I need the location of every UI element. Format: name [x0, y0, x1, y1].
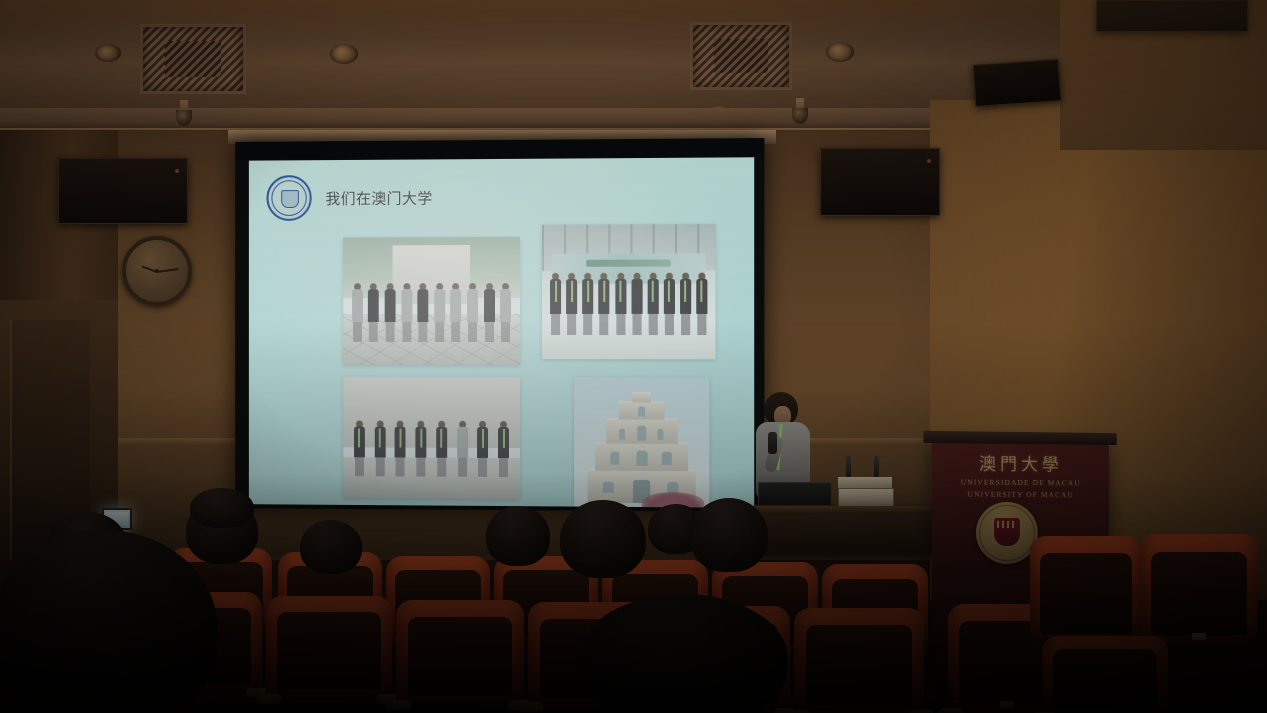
dome-camera-icon — [176, 100, 192, 126]
lectern-nameplate: 澳門大學 UNIVERSIDADE DE MACAU UNIVERSITY OF… — [950, 449, 1091, 499]
photo-people-group — [549, 273, 709, 335]
slide-title: 我们在澳门大学 — [325, 187, 432, 208]
lectern-english-name: UNIVERSITY OF MACAU — [950, 490, 1091, 500]
seat[interactable] — [1042, 636, 1168, 713]
clock-minute-hand — [157, 268, 179, 273]
dome-camera-icon — [792, 98, 808, 124]
seat[interactable] — [1030, 536, 1142, 642]
ruins-of-st-pauls — [588, 394, 696, 504]
clock-center-pin — [155, 269, 159, 273]
seat[interactable] — [396, 600, 524, 704]
audience-head — [486, 506, 550, 566]
vent-inner-louver — [714, 39, 768, 74]
handheld-microphone — [768, 432, 777, 454]
vent-inner-louver — [165, 41, 221, 77]
slide-photo-3 — [343, 377, 520, 499]
receiver-antenna — [846, 456, 851, 478]
seat-number-plate — [1192, 633, 1206, 640]
downlight-icon — [826, 42, 854, 62]
audience-head — [190, 488, 254, 528]
lectern-chinese-name: 澳門大學 — [950, 449, 1091, 475]
ceiling-air-vent-right — [690, 22, 792, 90]
slide-photo-2 — [542, 224, 716, 359]
right-wall-speaker — [820, 148, 940, 216]
downlight-icon — [95, 44, 121, 62]
university-crest-icon — [976, 502, 1038, 564]
receiver-antenna — [874, 456, 879, 478]
speaker-indicator-led — [175, 169, 179, 173]
seat-number-plate — [1000, 701, 1014, 708]
ceiling-edge-panel — [1096, 0, 1248, 32]
upper-right-speaker — [973, 59, 1062, 107]
screen-black-border — [235, 138, 764, 160]
slide-header: 我们在澳门大学 — [267, 172, 745, 222]
lectern-portuguese-name: UNIVERSIDADE DE MACAU — [950, 477, 1091, 487]
seat[interactable] — [266, 596, 392, 698]
audience-head — [560, 500, 646, 578]
projection-screen: 我们在澳门大学 — [235, 138, 764, 512]
presentation-slide: 我们在澳门大学 — [249, 157, 754, 508]
av-receiver-upper — [838, 477, 892, 488]
ceiling-air-vent-left — [140, 24, 246, 94]
lectern-top-surface — [923, 431, 1116, 445]
slide-photo-4 — [574, 377, 709, 508]
audience-head — [300, 520, 362, 574]
left-wall-speaker — [58, 158, 188, 224]
seat[interactable] — [1140, 534, 1258, 644]
wall-clock — [122, 236, 192, 306]
jinan-university-seal-icon — [267, 175, 312, 221]
photo-people-group — [350, 420, 513, 477]
foreground-audience-head — [578, 594, 788, 713]
lecture-hall-photo: 我们在澳门大学 — [0, 0, 1267, 713]
seat[interactable] — [794, 608, 924, 713]
downlight-icon — [330, 44, 358, 64]
audience-head — [690, 498, 768, 572]
speaker-indicator-led — [927, 159, 931, 163]
slide-photo-1 — [343, 237, 520, 365]
photo-people-group — [350, 283, 513, 342]
